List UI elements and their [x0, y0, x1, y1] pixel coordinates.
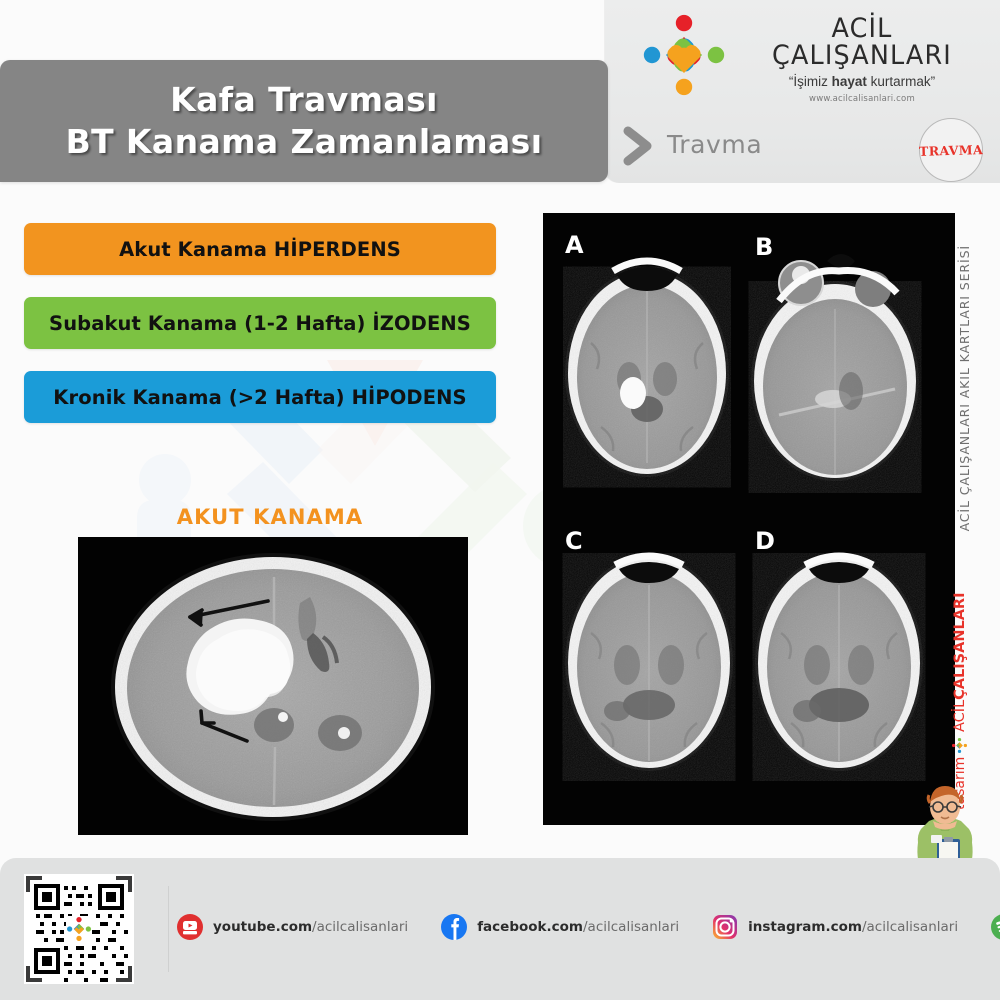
social-link-instagram-text: instagram.com/acilcalisanlari	[748, 919, 958, 935]
chevron-right-icon	[623, 126, 653, 166]
footer: youtube.com/acilcalisanlari facebook.com…	[0, 858, 1000, 1000]
bar-akut-kanama-label: Akut Kanama HİPERDENS	[119, 238, 401, 261]
svg-text:D: D	[755, 527, 775, 555]
facebook-icon	[440, 913, 468, 941]
qr-code[interactable]	[24, 874, 134, 984]
svg-text:B: B	[755, 233, 773, 261]
instagram-handle: /acilcalisanlari	[862, 919, 958, 935]
page-title-line1: Kafa Travması	[170, 80, 438, 119]
facebook-handle: /acilcalisanlari	[583, 919, 679, 935]
brand-name: ACİL ÇALIŞANLARI	[742, 16, 982, 69]
page-title: Kafa Travması BT Kanama Zamanlaması	[0, 60, 608, 182]
social-link-spotify[interactable]: spotify.com/acilcalisanlari	[990, 913, 1000, 941]
brand-header-top: ACİL ÇALIŞANLARI “İşimiz hayat kurtarmak…	[605, 0, 1000, 112]
travma-badge: TRAVMA	[919, 118, 983, 182]
spotify-icon	[990, 913, 1000, 941]
density-legend-list: Akut Kanama HİPERDENS Subakut Kanama (1-…	[24, 223, 496, 445]
series-side-label: ACİL ÇALIŞANLARI AKIL KARTLARI SERİSİ	[957, 245, 972, 531]
infographic-card: ACİL ÇALIŞANLARI “İşimiz hayat kurtarmak…	[0, 0, 1000, 1000]
page-title-line2: BT Kanama Zamanlaması	[66, 122, 543, 161]
youtube-handle: /acilcalisanlari	[312, 919, 408, 935]
bar-akut-kanama[interactable]: Akut Kanama HİPERDENS	[24, 223, 496, 275]
acilcalisanlari-logo-icon	[643, 14, 725, 96]
travma-badge-label: TRAVMA	[919, 142, 983, 159]
bar-kronik-kanama[interactable]: Kronik Kanama (>2 Hafta) HİPODENS	[24, 371, 496, 423]
svg-text:A: A	[565, 231, 584, 259]
category-row: Travma TRAVMA	[605, 112, 1000, 183]
social-link-youtube-text: youtube.com/acilcalisanlari	[213, 919, 408, 935]
credit-brand-bold: ÇALIŞANLARI	[952, 592, 968, 699]
youtube-icon	[176, 913, 204, 941]
bar-subakut-kanama-label: Subakut Kanama (1-2 Hafta) İZODENS	[49, 312, 471, 335]
slogan-post: kurtarmak”	[867, 74, 935, 89]
social-link-youtube[interactable]: youtube.com/acilcalisanlari	[176, 913, 408, 941]
bar-subakut-kanama[interactable]: Subakut Kanama (1-2 Hafta) İZODENS	[24, 297, 496, 349]
designer-credit-brand: ACİLÇALIŞANLARI	[952, 592, 968, 731]
youtube-domain: youtube.com	[213, 919, 312, 935]
brand-text-block: ACİL ÇALIŞANLARI “İşimiz hayat kurtarmak…	[737, 16, 987, 104]
akut-kanama-caption: AKUT KANAMA	[0, 505, 540, 529]
brand-website: www.acilcalisanlari.com	[737, 94, 987, 104]
bt-kanama-zamanlamasi-dort-panel: A B	[543, 213, 955, 825]
instagram-icon	[711, 913, 739, 941]
footer-divider	[168, 886, 169, 972]
designer-credit: tasarım ACİLÇALIŞANLARI	[952, 560, 968, 810]
category-label: Travma	[667, 130, 762, 159]
facebook-domain: facebook.com	[477, 919, 583, 935]
brand-slogan: “İşimiz hayat kurtarmak”	[737, 75, 987, 90]
credit-brand-light: ACİL	[952, 700, 968, 732]
instagram-domain: instagram.com	[748, 919, 862, 935]
bar-kronik-kanama-label: Kronik Kanama (>2 Hafta) HİPODENS	[53, 386, 466, 409]
svg-text:C: C	[565, 527, 583, 555]
akut-kanama-bt-goruntusu	[78, 537, 468, 835]
social-link-facebook[interactable]: facebook.com/acilcalisanlari	[440, 913, 679, 941]
slogan-pre: “İşimiz	[789, 74, 832, 89]
acilcalisanlari-logo-icon-small	[953, 737, 968, 752]
social-link-facebook-text: facebook.com/acilcalisanlari	[477, 919, 679, 935]
social-links: youtube.com/acilcalisanlari facebook.com…	[176, 904, 936, 950]
brand-header: ACİL ÇALIŞANLARI “İşimiz hayat kurtarmak…	[605, 0, 1000, 183]
social-link-instagram[interactable]: instagram.com/acilcalisanlari	[711, 913, 958, 941]
slogan-bold: hayat	[832, 74, 867, 89]
